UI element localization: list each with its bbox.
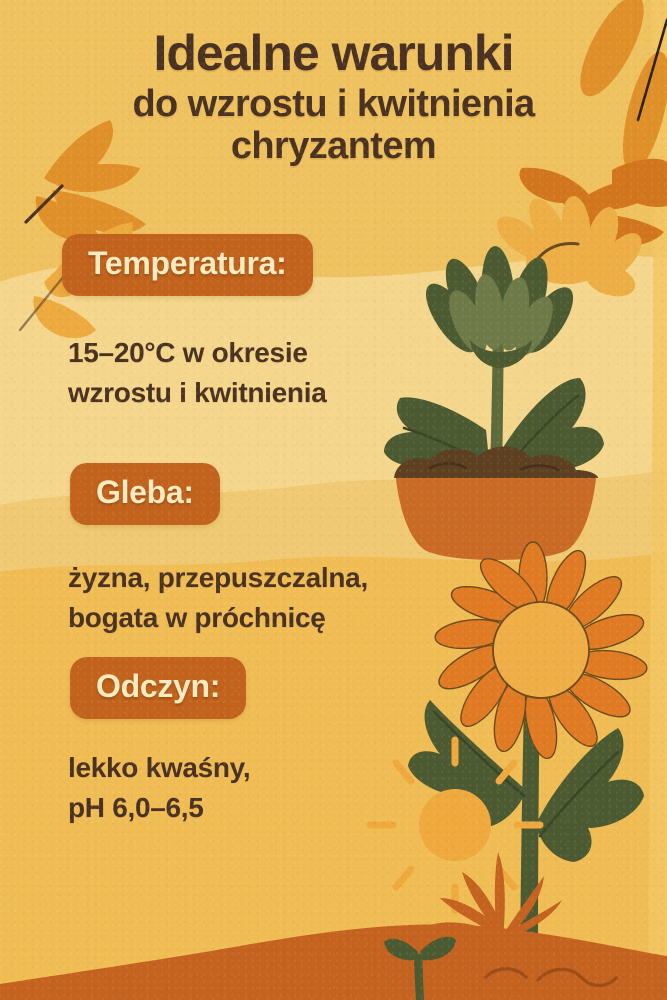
title-line-2: do wzrostu i kwitnienia [0, 83, 667, 126]
section-body-temperature: 15–20°C w okresie wzrostu i kwitnienia [68, 333, 326, 413]
section-body-soil: żyzna, przepuszczalna, bogata w próchnic… [68, 558, 368, 638]
title-line-3: chryzantem [0, 125, 667, 168]
content-layer: Idealne warunki do wzrostu i kwitnienia … [0, 0, 667, 1000]
poster-root: Idealne warunki do wzrostu i kwitnienia … [0, 0, 667, 1000]
section-badge-ph: Odczyn: [70, 657, 246, 719]
title-line-1: Idealne warunki [0, 28, 667, 80]
section-badge-temperature: Temperatura: [62, 234, 313, 296]
section-body-ph: lekko kwaśny, pH 6,0–6,5 [68, 748, 250, 828]
page-title: Idealne warunki do wzrostu i kwitnienia … [0, 28, 667, 168]
section-badge-soil: Gleba: [70, 463, 220, 525]
